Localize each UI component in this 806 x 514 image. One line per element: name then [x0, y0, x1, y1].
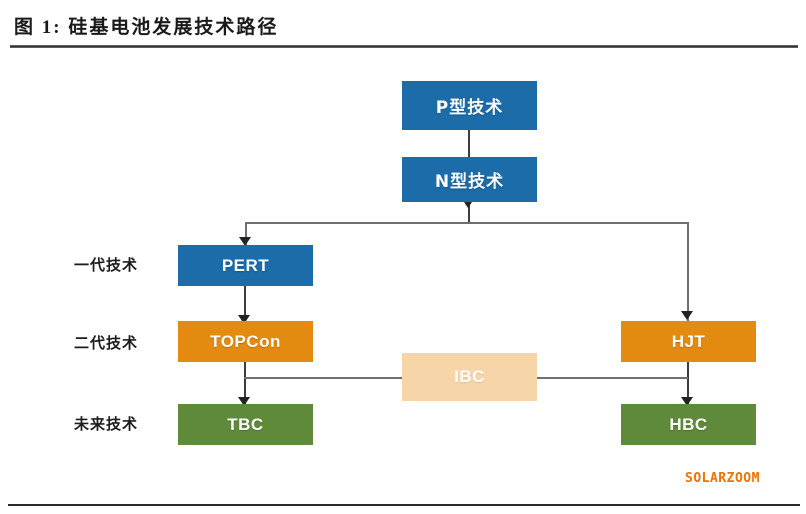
arrowhead-bus-to-hjt — [681, 311, 693, 320]
figure-page: 图 1: 硅基电池发展技术路径 一代技术 二代技术 未来技术 — [0, 0, 806, 514]
watermark-text: SOLARZOOM — [685, 471, 760, 486]
row-label-future: 未来技术 — [74, 413, 138, 434]
node-hbc[interactable]: HBC — [621, 404, 756, 445]
node-pert-label: PERT — [222, 256, 269, 276]
node-n-type[interactable]: N型技术 — [402, 157, 537, 202]
node-topcon-label: TOPCon — [210, 332, 281, 352]
page-title: 图 1: 硅基电池发展技术路径 — [14, 12, 278, 39]
row-label-generation-1: 一代技术 — [74, 254, 138, 275]
node-hbc-label: HBC — [669, 415, 707, 435]
node-hjt[interactable]: HJT — [621, 321, 756, 362]
page-bottom-divider — [8, 504, 800, 506]
node-n-type-label: N型技术 — [435, 167, 504, 192]
figure-header: 图 1: 硅基电池发展技术路径 — [0, 0, 806, 47]
connector-ibc-to-left-column — [244, 377, 414, 379]
node-ibc-label: IBC — [454, 367, 485, 387]
connector-ibc-to-right-column — [525, 377, 688, 379]
node-pert[interactable]: PERT — [178, 245, 313, 286]
node-hjt-label: HJT — [672, 332, 706, 352]
node-p-type[interactable]: P型技术 — [402, 81, 537, 130]
node-topcon[interactable]: TOPCon — [178, 321, 313, 362]
node-ibc[interactable]: IBC — [402, 353, 537, 401]
node-tbc[interactable]: TBC — [178, 404, 313, 445]
node-p-type-label: P型技术 — [436, 93, 503, 118]
technology-roadmap-diagram: 一代技术 二代技术 未来技术 P型技术 — [0, 47, 806, 504]
node-tbc-label: TBC — [227, 415, 263, 435]
row-label-generation-2: 二代技术 — [74, 332, 138, 353]
connector-bus-to-hjt — [687, 222, 689, 321]
connector-branch-bus — [245, 222, 689, 224]
